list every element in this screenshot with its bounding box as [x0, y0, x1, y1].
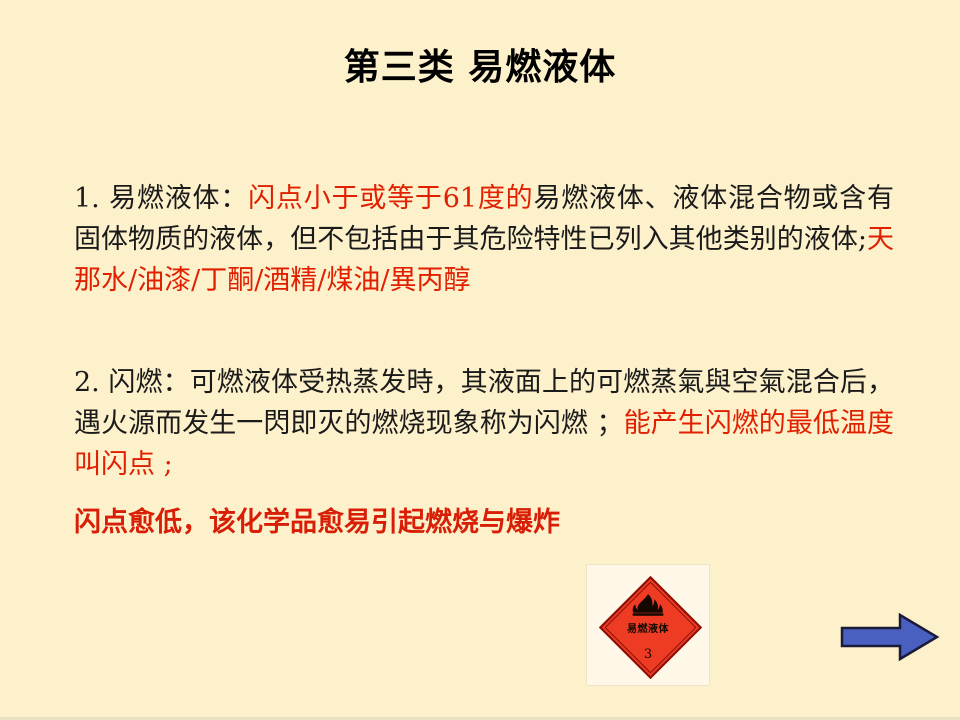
slide-canvas: 第三类 易燃液体 1. 易燃液体：闪点小于或等于61度的易燃液体、液体混合物或含…: [0, 0, 960, 720]
hazard-placard-image: 易燃液体 3: [586, 564, 710, 686]
next-arrow[interactable]: [840, 612, 940, 662]
paragraph-flash-fire-definition: 2. 闪燃：可燃液体受热蒸发時，其液面上的可燃蒸氣與空氣混合后，遇火源而发生一閃…: [74, 362, 894, 485]
hazard-placard: 易燃液体 3: [598, 575, 698, 675]
para3-run-0: 闪点愈低，该化学品愈易引起燃烧与爆炸: [74, 507, 560, 538]
placard-label: 易燃液体: [627, 620, 669, 635]
flame-icon: [631, 593, 665, 619]
paragraph-flammable-liquid-definition: 1. 易燃液体：闪点小于或等于61度的易燃液体、液体混合物或含有固体物质的液体，…: [74, 178, 894, 301]
page-title: 第三类 易燃液体: [0, 38, 960, 90]
placard-class-number: 3: [598, 647, 698, 662]
para1-run-1: 闪点小于或等于61度的: [248, 183, 533, 214]
para1-run-0: 1. 易燃液体：: [74, 183, 248, 214]
paragraph-flash-point-warning: 闪点愈低，该化学品愈易引起燃烧与爆炸: [74, 502, 894, 543]
